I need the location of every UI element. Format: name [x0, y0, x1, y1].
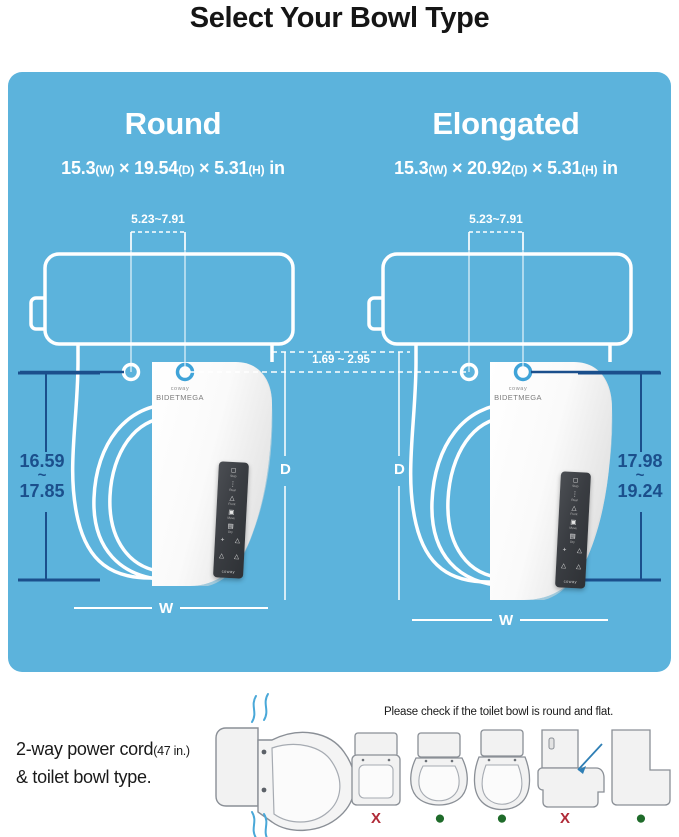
power-cord-length: (47 in.)	[153, 744, 190, 758]
sq-dot-2	[388, 759, 391, 762]
multiply-sign-4: ×	[532, 158, 542, 178]
round-h-value: 5.31	[214, 158, 248, 178]
sk-bowl	[538, 768, 604, 807]
multiply-sign-2: ×	[199, 158, 209, 178]
remote-btn-temp[interactable]: △	[230, 538, 245, 545]
verdict-mark-2: ●	[425, 812, 455, 825]
elong-d-value: 20.92	[467, 158, 511, 178]
round-depth-letter: D	[280, 461, 291, 478]
fl-body	[612, 730, 670, 805]
remote2-btn-stop[interactable]: ◻Stop	[560, 477, 590, 488]
sq-bowl	[352, 755, 400, 805]
elongated-remote-control[interactable]: ◻Stop ⋮Rear △Front ▣Move ▤Dry + △ △ △ co…	[555, 471, 591, 588]
motion-line-2	[264, 694, 268, 720]
elongated-depth-letter: D	[394, 461, 405, 478]
remote2-btn-front[interactable]: △Front	[559, 505, 589, 516]
motion-line-4	[264, 814, 268, 837]
remote-brand-label: coway	[213, 568, 243, 575]
remote2-btn-temp[interactable]: △	[572, 548, 587, 555]
bowl-example-square-top-view	[352, 733, 400, 805]
motion-line-3	[252, 812, 256, 837]
sk-tank	[542, 730, 578, 768]
round-w-unit: (W)	[95, 163, 114, 177]
elong-h-unit: (H)	[581, 163, 597, 177]
round-d-value: 19.54	[134, 158, 178, 178]
sq-seat	[359, 765, 393, 798]
remote2-brand-label: coway	[555, 578, 585, 585]
power-cord-note: 2-way power cord(47 in.) & toilet bowl t…	[16, 736, 226, 792]
remote-btn-front[interactable]: △Front	[217, 495, 247, 506]
elong-w-unit: (W)	[428, 163, 447, 177]
round-height-dimension: 16.59 ~ 17.85	[6, 452, 78, 500]
ov-tank	[418, 733, 460, 757]
power-cord-line-2: & toilet bowl type.	[16, 764, 226, 792]
elong-unit: in	[602, 158, 618, 178]
sk-arrow-head	[578, 766, 586, 774]
elong-d-unit: (D)	[511, 163, 527, 177]
el-dot-2	[514, 759, 517, 762]
center-gap-label: 1.69 ~ 2.95	[286, 354, 396, 366]
panel-heading-elongated: Elongated	[341, 106, 671, 142]
motion-line-1	[252, 696, 256, 722]
round-remote-control[interactable]: ◻Stop ⋮Rear △Front ▣Move ▤Dry + △ △ △ co…	[213, 461, 249, 578]
round-unit: in	[269, 158, 285, 178]
round-w-value: 15.3	[61, 158, 95, 178]
remote2-btn-dry[interactable]: ▤Dry	[557, 533, 587, 544]
elongated-width-letter: W	[499, 612, 513, 629]
verdict-mark-5: ●	[626, 812, 656, 825]
remote-btn-rear[interactable]: ⋮Rear	[218, 481, 248, 492]
top-view-hinge-2	[262, 788, 267, 793]
remote2-btn-nozzle[interactable]: △	[556, 563, 571, 570]
sq-dot-1	[362, 759, 365, 762]
sq-tank	[355, 733, 397, 757]
remote-btn-wash[interactable]: △	[229, 554, 244, 561]
el-seat	[482, 765, 522, 804]
remote-btn-nozzle[interactable]: △	[214, 553, 229, 560]
elong-h-value: 5.31	[547, 158, 581, 178]
toilet-seat-inner-top-view	[272, 744, 340, 822]
panel-heading-round: Round	[8, 106, 338, 142]
panel-dimensions-round: 15.3(W) × 19.54(D) × 5.31(H) in	[8, 158, 338, 179]
toilet-top-view-illustration	[216, 694, 355, 837]
multiply-sign-1: ×	[119, 158, 129, 178]
remote2-btn-move[interactable]: ▣Move	[558, 519, 588, 530]
el-dot-1	[488, 759, 491, 762]
verdict-mark-3: ●	[487, 812, 517, 825]
bowl-check-note: Please check if the toilet bowl is round…	[384, 706, 613, 718]
el-tank	[481, 730, 523, 756]
remote2-btn-rear[interactable]: ⋮Rear	[560, 491, 590, 502]
el-bowl	[474, 757, 529, 810]
toilet-bowl-top-view	[258, 732, 355, 830]
elong-w-value: 15.3	[394, 158, 428, 178]
bowl-example-flat-side-view	[612, 730, 670, 805]
bowl-type-infographic: Select Your Bowl Type Round Elongated 15…	[0, 0, 679, 837]
page-title: Select Your Bowl Type	[0, 2, 679, 35]
remote-btn-power[interactable]: +	[215, 537, 230, 544]
elongated-height-dimension: 17.98 ~ 19.24	[604, 452, 676, 500]
remote2-btn-power[interactable]: +	[557, 547, 572, 554]
ov-bowl	[411, 758, 468, 805]
round-width-letter: W	[159, 600, 173, 617]
multiply-sign-3: ×	[452, 158, 462, 178]
ov-seat	[419, 766, 459, 801]
bowl-example-oval-top-view	[411, 733, 468, 805]
power-cord-text: 2-way power cord	[16, 739, 153, 759]
remote2-btn-wash[interactable]: △	[571, 564, 586, 571]
verdict-mark-4: X	[550, 810, 580, 827]
sk-arrow-shaft	[578, 744, 602, 770]
round-d-unit: (D)	[178, 163, 194, 177]
remote-btn-move[interactable]: ▣Move	[216, 509, 246, 520]
bowl-example-skirted-side-view	[538, 730, 604, 807]
ov-dot-2	[451, 760, 454, 763]
ov-dot-1	[425, 760, 428, 763]
bowl-example-elongated-top-view	[474, 730, 529, 810]
bowl-example-icons	[352, 730, 670, 810]
round-top-dimension-label: 5.23~7.91	[110, 212, 206, 226]
round-height-max: 17.85	[19, 481, 64, 501]
round-h-unit: (H)	[248, 163, 264, 177]
remote-btn-dry[interactable]: ▤Dry	[215, 523, 245, 534]
top-view-hinge-1	[262, 750, 267, 755]
elongated-top-dimension-label: 5.23~7.91	[448, 212, 544, 226]
elong-height-max: 19.24	[617, 481, 662, 501]
remote-btn-stop[interactable]: ◻Stop	[218, 467, 248, 478]
power-cord-line-1: 2-way power cord(47 in.)	[16, 736, 226, 764]
panel-dimensions-elongated: 15.3(W) × 20.92(D) × 5.31(H) in	[341, 158, 671, 179]
verdict-mark-1: X	[361, 810, 391, 827]
sk-flush-button	[549, 738, 554, 749]
